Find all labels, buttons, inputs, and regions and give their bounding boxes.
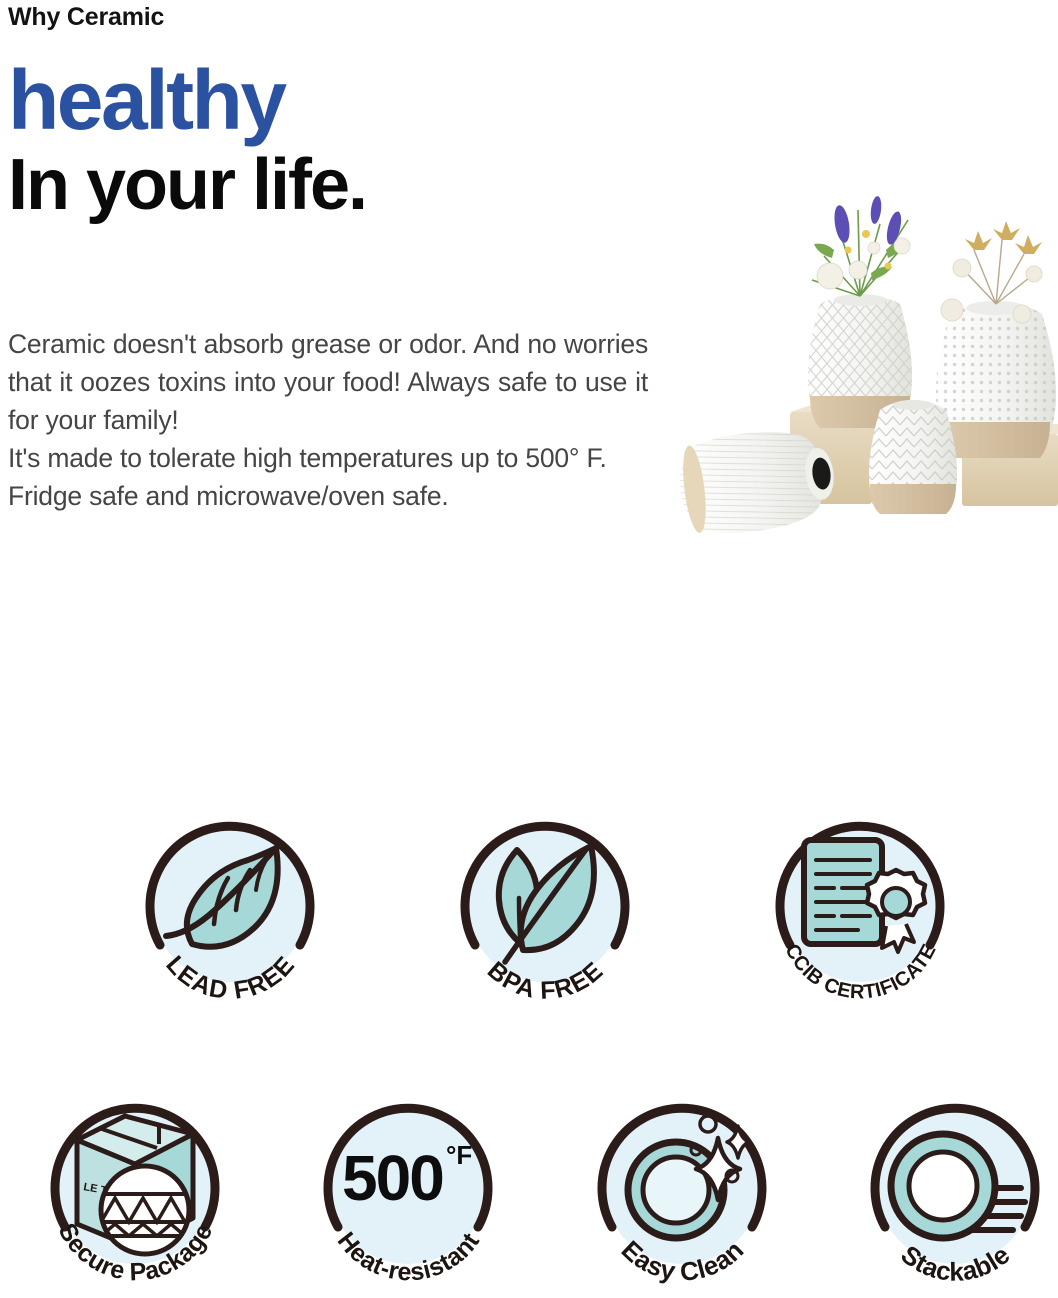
badge-lead-free[interactable]: LEAD FREE xyxy=(128,806,333,1011)
badge-row-bottom: LE TAUC Secure Package xyxy=(0,1082,1058,1298)
body-paragraph-1: Ceramic doesn't absorb grease or odor. A… xyxy=(8,325,648,439)
badge-secure-package[interactable]: LE TAUC Secure Package xyxy=(33,1088,238,1293)
temperature-value: 500 xyxy=(342,1142,443,1214)
box-package-icon: LE TAUC xyxy=(77,1116,193,1254)
badge-easy-clean[interactable]: Easy Clean xyxy=(580,1088,785,1293)
why-ceramic-page: Why Ceramic healthy In your life. Cerami… xyxy=(0,0,1058,1298)
body-copy: Ceramic doesn't absorb grease or odor. A… xyxy=(8,325,648,515)
body-paragraph-2: It's made to tolerate high temperatures … xyxy=(8,439,648,515)
temperature-unit: °F xyxy=(446,1140,472,1170)
badge-row-top: LEAD FREE BPA FREE xyxy=(0,798,1058,1020)
badge-ccib-certificate[interactable]: CCIB CERTIFICATE xyxy=(758,806,963,1011)
badge-stackable[interactable]: Stackable xyxy=(853,1088,1058,1293)
headline-secondary: In your life. xyxy=(8,149,668,221)
badge-bpa-free[interactable]: BPA FREE xyxy=(443,806,648,1011)
page-eyebrow: Why Ceramic xyxy=(8,2,164,32)
headline-primary: healthy xyxy=(8,62,668,139)
headline-block: healthy In your life. xyxy=(8,62,668,221)
badge-heat-resistant[interactable]: 500 °F Heat-resistant xyxy=(306,1088,511,1293)
product-photo xyxy=(662,162,1058,580)
